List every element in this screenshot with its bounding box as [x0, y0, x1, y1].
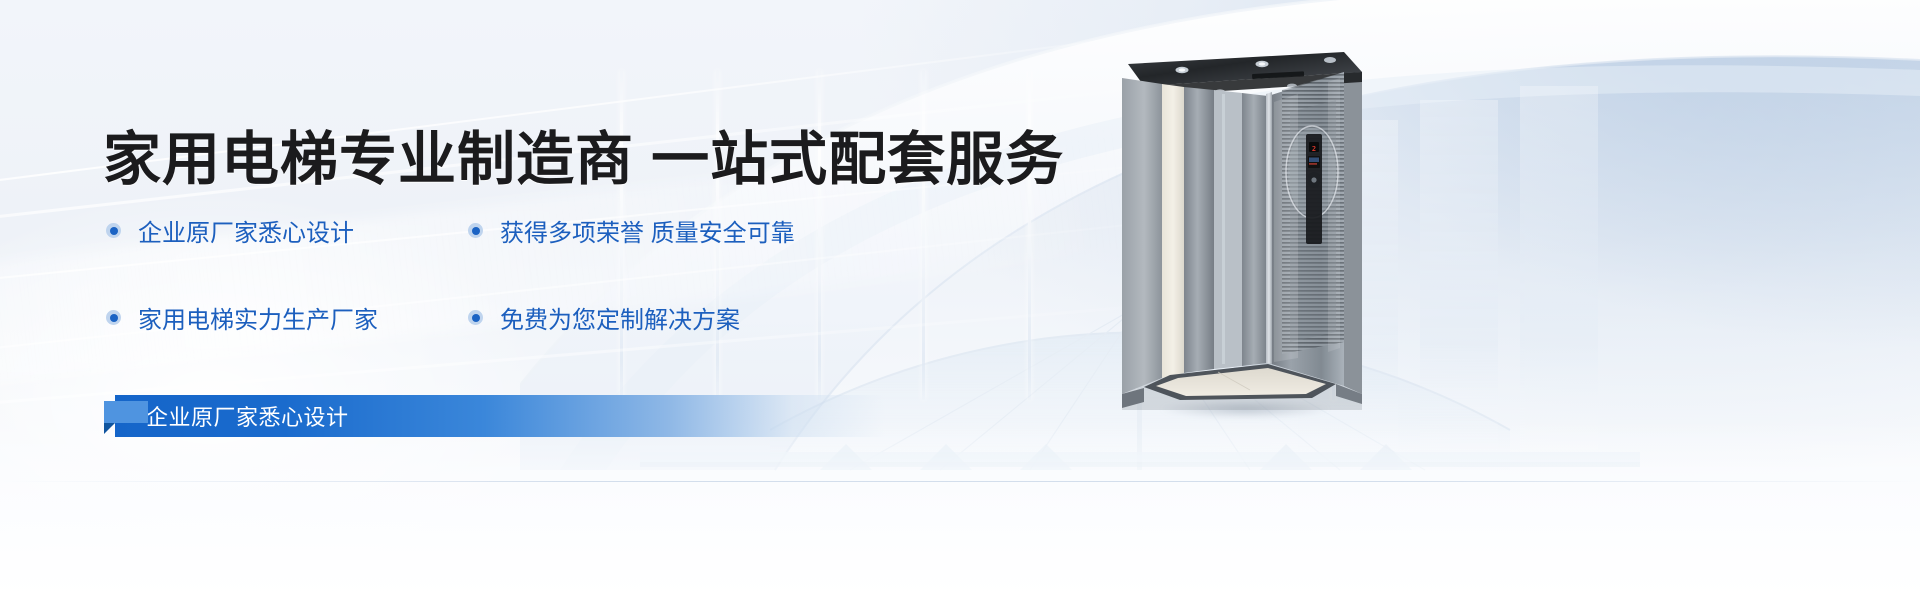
floor-reflection	[0, 420, 1920, 600]
bullet-dot-icon	[468, 310, 483, 325]
feature-item-4: 免费为您定制解决方案	[468, 300, 740, 335]
feature-label-1: 企业原厂家悉心设计	[138, 213, 354, 248]
bullet-dot-icon	[106, 310, 121, 325]
elevator-cabin-image: 5	[1122, 42, 1362, 410]
bullet-dot-icon	[106, 223, 121, 238]
feature-label-4: 免费为您定制解决方案	[500, 300, 740, 335]
cta-bar-label: 企业原厂家悉心设计	[146, 400, 349, 432]
feature-label-2: 获得多项荣誉 质量安全可靠	[500, 213, 795, 248]
feature-row-2: 家用电梯实力生产厂家 免费为您定制解决方案	[106, 300, 886, 335]
feature-item-1: 企业原厂家悉心设计	[106, 213, 468, 248]
bullet-dot-icon	[468, 223, 483, 238]
cta-bar[interactable]: 企业原厂家悉心设计	[115, 395, 885, 437]
cta-bar-tab-marker	[104, 401, 148, 423]
feature-item-3: 家用电梯实力生产厂家	[106, 300, 468, 335]
elevator-illustration: 5	[1122, 42, 1362, 410]
hero-banner: 5	[0, 0, 1920, 600]
feature-list: 企业原厂家悉心设计 获得多项荣誉 质量安全可靠 家用电梯实力生产厂家 免费为您定…	[106, 213, 886, 387]
page-title: 家用电梯专业制造商 一站式配套服务	[103, 112, 1064, 196]
feature-row-1: 企业原厂家悉心设计 获得多项荣誉 质量安全可靠	[106, 213, 886, 248]
mirror-floor-display: 2	[1312, 145, 1316, 153]
feature-item-2: 获得多项荣誉 质量安全可靠	[468, 213, 795, 248]
floor-horizon-line	[0, 481, 1920, 482]
feature-label-3: 家用电梯实力生产厂家	[138, 300, 378, 335]
